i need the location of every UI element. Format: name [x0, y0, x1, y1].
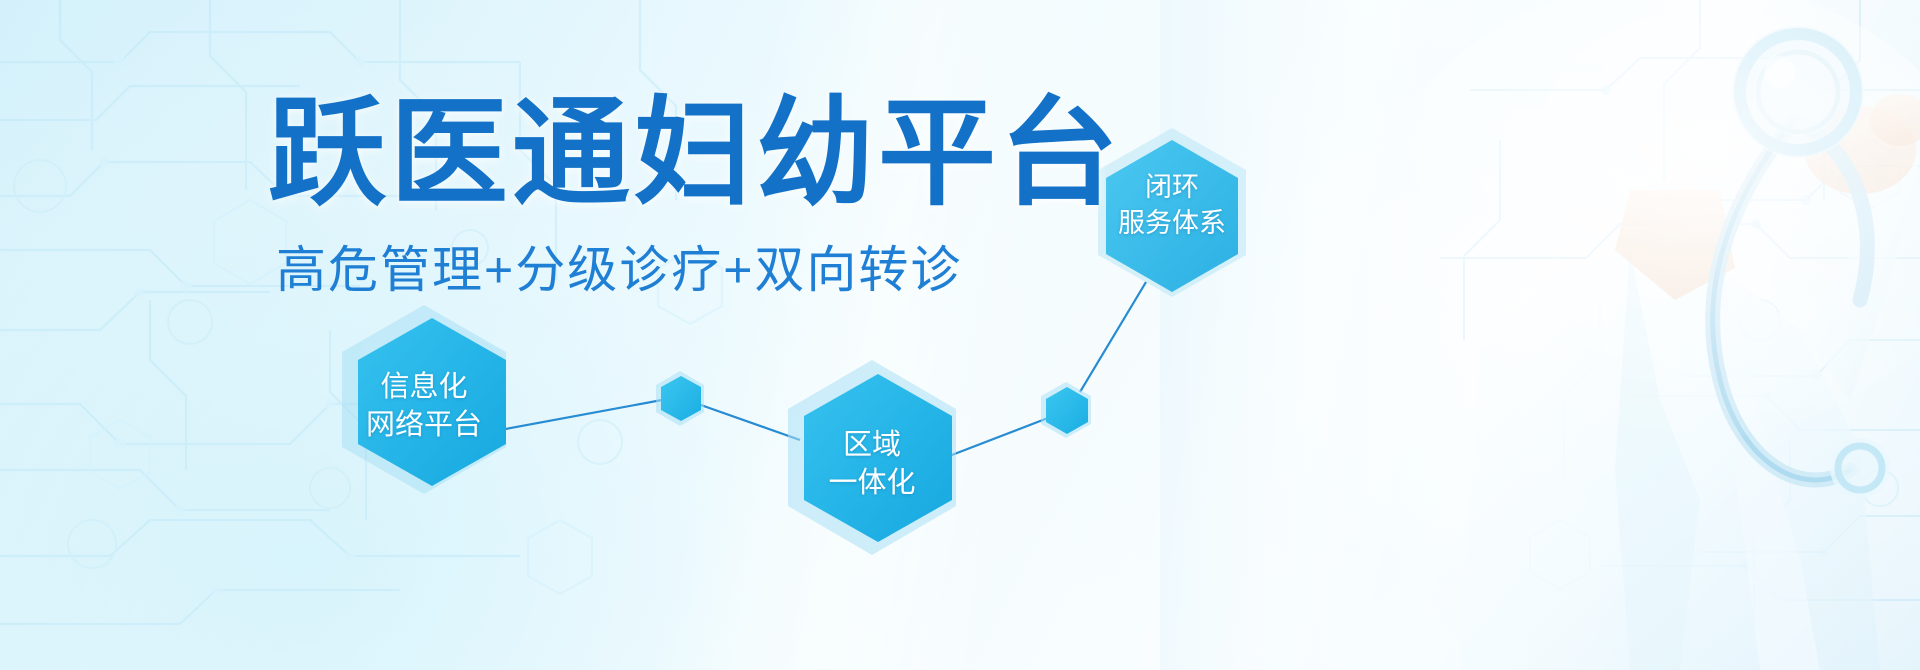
edge-regional-to-connector-right: [944, 418, 1048, 458]
node-regional-integration-label: 区域 一体化: [782, 426, 962, 503]
node-connector-left: [656, 371, 704, 426]
node-information-platform-line2: 网络平台: [334, 406, 514, 444]
node-information-platform-line1: 信息化: [334, 368, 514, 406]
node-regional-integration-line2: 一体化: [782, 464, 962, 502]
banner-main-title: 跃医通妇幼平台: [268, 88, 1122, 220]
banner-text-block: 跃医通妇幼平台 高危管理+分级诊疗+双向转诊: [268, 88, 1122, 300]
node-regional-integration-line1: 区域: [782, 426, 962, 464]
edge-info-to-connector-left: [500, 400, 662, 430]
promo-banner: 信息化 网络平台 区域 一体化 闭环 服务体系 跃医通妇幼平台 高危管理+分级诊…: [0, 0, 1920, 670]
edge-group: [500, 282, 1146, 458]
node-information-platform-label: 信息化 网络平台: [334, 368, 514, 445]
node-connector-right: [1041, 382, 1091, 438]
node-regional-integration: [788, 360, 956, 555]
node-information-platform: [342, 305, 506, 494]
edge-connector-left-to-regional: [698, 404, 800, 440]
banner-sub-title: 高危管理+分级诊疗+双向转诊: [276, 240, 1122, 300]
doctor-with-stethoscope-photo: [1160, 0, 1920, 670]
